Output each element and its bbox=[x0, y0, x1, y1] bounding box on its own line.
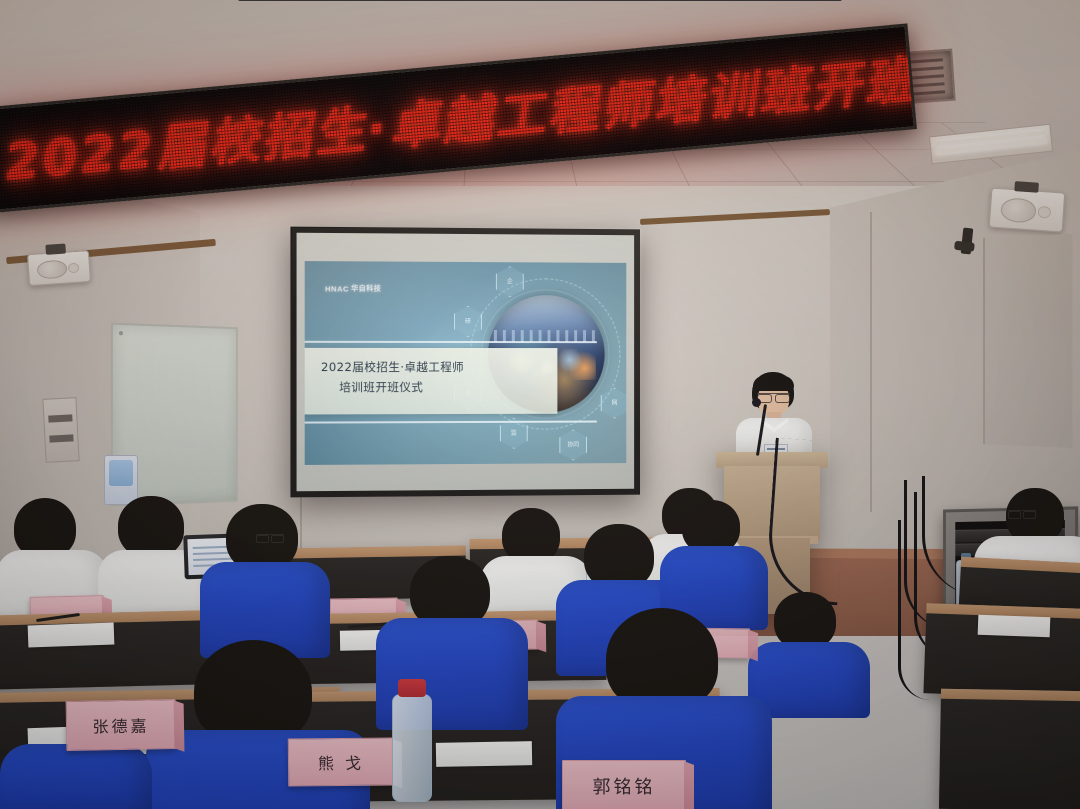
right-door bbox=[983, 234, 1072, 448]
microphone-icon bbox=[752, 398, 761, 407]
projection-screen: HNAC 华自科技 企 研 水 监 协同 网 2022届校招生·卓越工程师 bbox=[290, 227, 640, 498]
papers bbox=[28, 623, 115, 648]
name-card: 熊 戈 bbox=[288, 737, 394, 786]
wall-seam bbox=[870, 212, 872, 512]
glasses-icon bbox=[1008, 510, 1036, 517]
projection-screen-surface: HNAC 华自科技 企 研 水 监 协同 网 2022届校招生·卓越工程师 bbox=[297, 233, 635, 492]
desk bbox=[939, 689, 1080, 809]
papers bbox=[436, 741, 532, 767]
slide-title-line2: 培训班开班仪式 bbox=[321, 377, 551, 397]
audience-person bbox=[200, 504, 328, 654]
presenter-glasses-icon bbox=[757, 393, 790, 401]
glasses-icon bbox=[256, 534, 284, 541]
classroom-photo-scene: 2022届校招生·卓越工程师培训班开班仪式 HNAC 华自科技 企 研 水 监 bbox=[0, 0, 1080, 809]
wall-speaker-icon bbox=[27, 250, 91, 286]
papers bbox=[978, 615, 1051, 638]
hnac-logo: HNAC 华自科技 bbox=[325, 283, 381, 293]
audience-person bbox=[0, 744, 150, 809]
water-bottle bbox=[392, 694, 432, 802]
slide-title-line1: 2022届校招生·卓越工程师 bbox=[321, 360, 464, 374]
name-card: 郭铭铭 bbox=[562, 760, 686, 809]
presentation-slide: HNAC 华自科技 企 研 水 监 协同 网 2022届校招生·卓越工程师 bbox=[305, 261, 627, 465]
logo-latin-text: HNAC bbox=[325, 284, 349, 293]
logo-chinese-text: 华自科技 bbox=[351, 283, 381, 293]
audience-person bbox=[748, 592, 868, 712]
wall-speaker-icon bbox=[989, 187, 1066, 232]
security-camera-icon bbox=[961, 228, 974, 255]
slide-title-band: 2022届校招生·卓越工程师 培训班开班仪式 bbox=[305, 348, 557, 415]
name-card: 张德嘉 bbox=[66, 699, 177, 751]
wall-air-conditioner-icon bbox=[42, 397, 79, 463]
slide-title: 2022届校招生·卓越工程师 培训班开班仪式 bbox=[321, 357, 551, 398]
